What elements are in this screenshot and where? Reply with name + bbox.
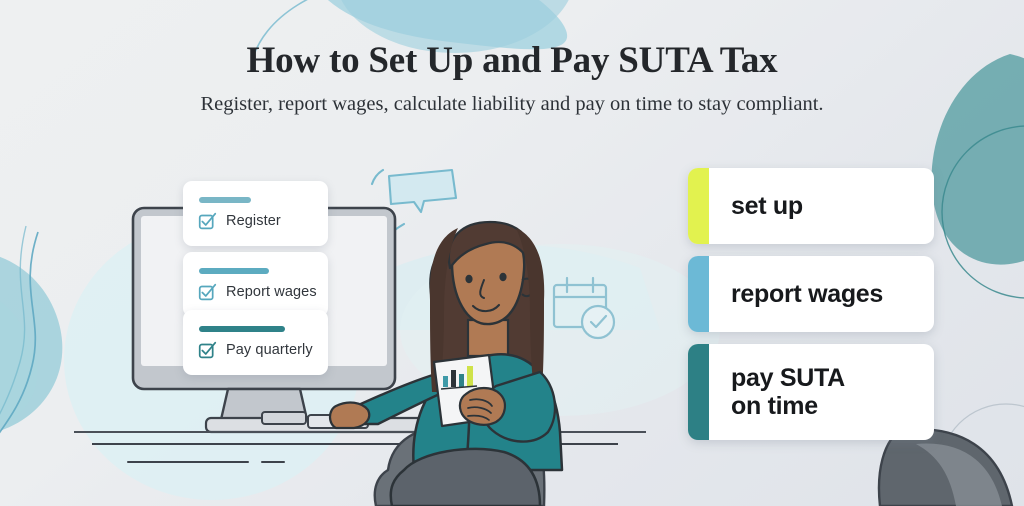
step-accent-bar [688, 168, 709, 244]
step-card-set-up[interactable]: set up [688, 168, 934, 244]
header: How to Set Up and Pay SUTA Tax Register,… [0, 40, 1024, 116]
step-label: set up [731, 192, 803, 220]
checklist-row: Register [198, 212, 328, 231]
accent-bar [199, 268, 269, 274]
step-accent-bar [688, 344, 709, 440]
checklist-row: Report wages [198, 283, 328, 302]
accent-bar [199, 326, 285, 332]
checklist-row: Pay quarterly [198, 341, 328, 360]
checkbox-checked-icon [198, 212, 217, 231]
checkbox-checked-icon [198, 341, 217, 360]
checklist-card-register[interactable]: Register [183, 181, 328, 246]
step-card-pay-suta-on-time[interactable]: pay SUTA on time [688, 344, 934, 440]
step-label: report wages [731, 280, 883, 308]
step-label: pay SUTA on time [731, 364, 845, 420]
accent-bar [199, 197, 251, 203]
page-title: How to Set Up and Pay SUTA Tax [0, 40, 1024, 83]
step-card-report-wages[interactable]: report wages [688, 256, 934, 332]
checklist-label: Register [226, 213, 281, 229]
step-accent-bar [688, 256, 709, 332]
checklist-card-pay-quarterly[interactable]: Pay quarterly [183, 310, 328, 375]
checklist-card-report-wages[interactable]: Report wages [183, 252, 328, 317]
page-subtitle: Register, report wages, calculate liabil… [0, 92, 1024, 117]
infographic-canvas: How to Set Up and Pay SUTA Tax Register,… [0, 0, 1024, 506]
checkbox-checked-icon [198, 283, 217, 302]
checklist-label: Report wages [226, 284, 317, 300]
checklist-label: Pay quarterly [226, 342, 313, 358]
